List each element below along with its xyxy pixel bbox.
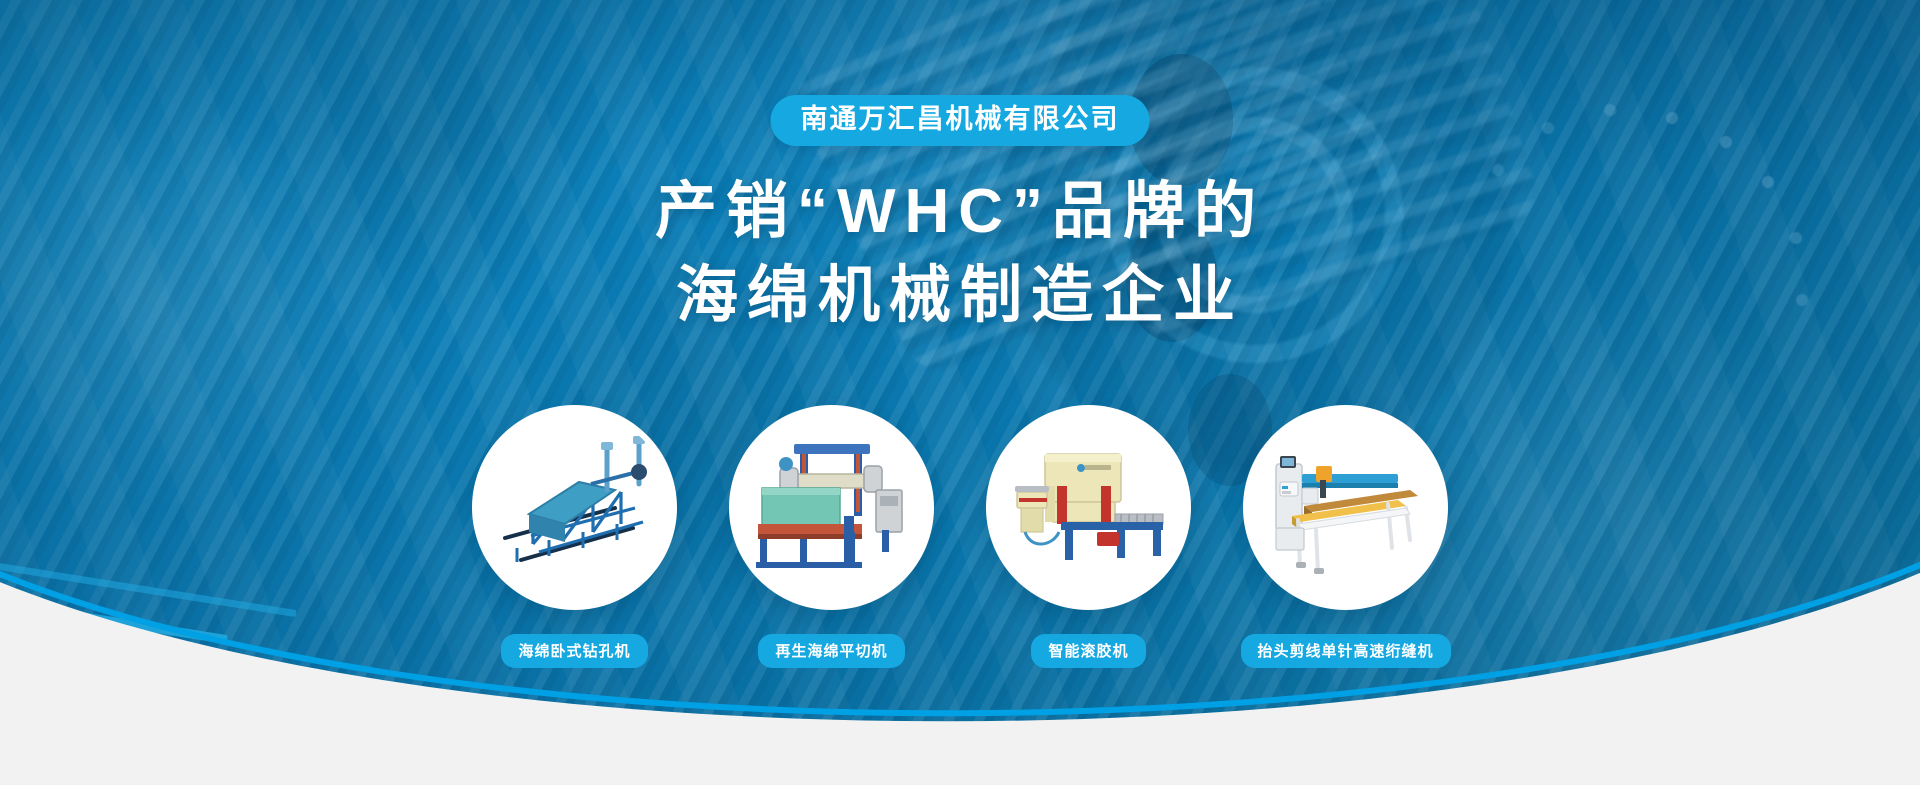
product-label: 抬头剪线单针高速绗缝机	[1241, 634, 1451, 668]
foam-horizontal-drilling-machine-icon	[487, 420, 662, 595]
product-label: 海绵卧式钻孔机	[501, 634, 647, 668]
hero-banner: 南通万汇昌机械有限公司 产销“WHC”品牌的 海绵机械制造企业	[0, 0, 1920, 785]
banner-content: 南通万汇昌机械有限公司 产销“WHC”品牌的 海绵机械制造企业	[0, 0, 1920, 785]
product-image-circle[interactable]	[729, 405, 934, 610]
company-name-badge: 南通万汇昌机械有限公司	[771, 95, 1150, 146]
single-needle-high-speed-quilting-machine-icon	[1258, 420, 1433, 595]
product-image-circle[interactable]	[986, 405, 1191, 610]
headline-line-1: 产销“WHC”品牌的	[655, 170, 1265, 254]
recycled-foam-horizontal-cutting-machine-icon	[744, 420, 919, 595]
product-label: 再生海绵平切机	[758, 634, 904, 668]
product-image-circle[interactable]	[472, 405, 677, 610]
product-item[interactable]: 再生海绵平切机	[729, 405, 934, 668]
intelligent-glue-rolling-machine-icon	[1001, 420, 1176, 595]
product-label: 智能滚胶机	[1031, 634, 1145, 668]
product-item[interactable]: 智能滚胶机	[986, 405, 1191, 668]
product-showcase-list: 海绵卧式钻孔机	[472, 405, 1448, 668]
headline-block: 产销“WHC”品牌的 海绵机械制造企业	[655, 170, 1265, 338]
product-item[interactable]: 海绵卧式钻孔机	[472, 405, 677, 668]
product-item[interactable]: 抬头剪线单针高速绗缝机	[1243, 405, 1448, 668]
headline-line-2: 海绵机械制造企业	[655, 254, 1265, 338]
product-image-circle[interactable]	[1243, 405, 1448, 610]
